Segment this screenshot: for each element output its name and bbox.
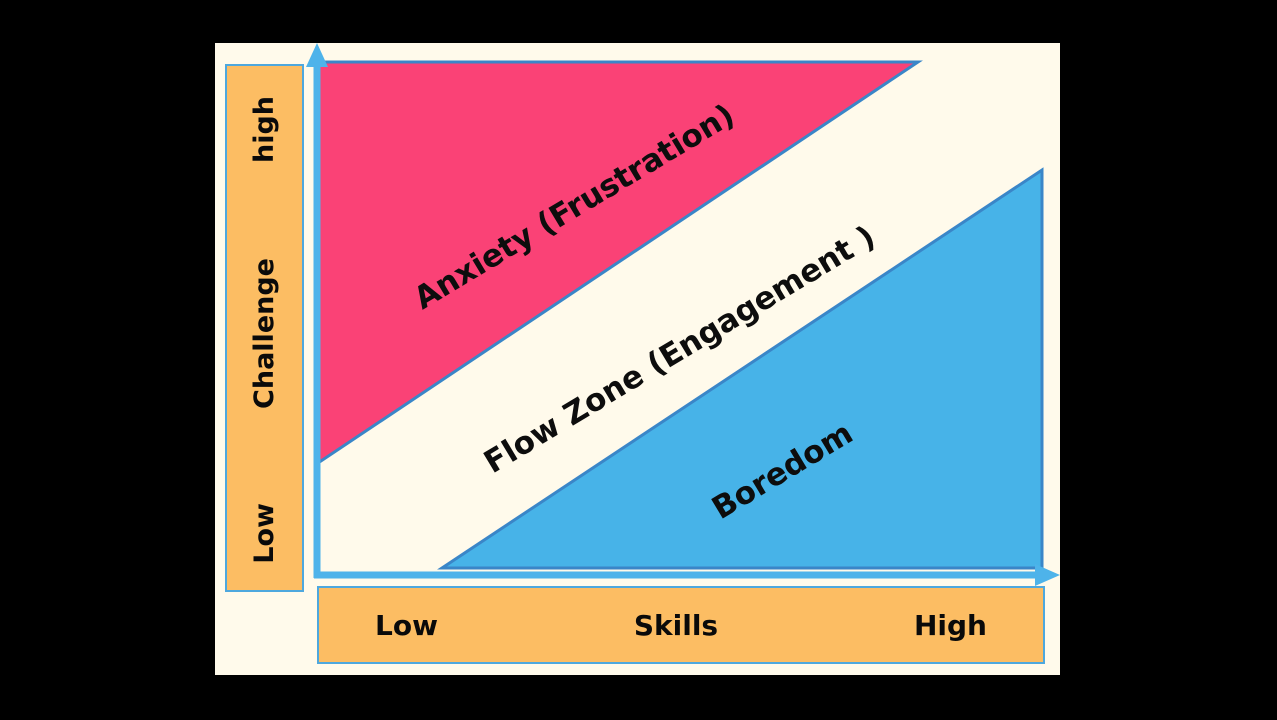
diagram-panel: Anxiety (Frustration) Flow Zone (Engagem… <box>215 43 1060 675</box>
x-axis-label-box: Low Skills High <box>317 586 1045 664</box>
y-axis-label-box: high Challenge Low <box>225 64 304 592</box>
y-axis-low-label: Low <box>251 503 278 564</box>
y-axis-title: Challenge <box>251 258 278 409</box>
slide-canvas: Anxiety (Frustration) Flow Zone (Engagem… <box>0 0 1277 720</box>
x-axis-title: Skills <box>634 609 718 642</box>
y-axis-high-label: high <box>251 96 278 163</box>
x-axis-high-label: High <box>914 609 987 642</box>
flow-zone-chart <box>215 43 1060 675</box>
x-axis-low-label: Low <box>375 609 438 642</box>
